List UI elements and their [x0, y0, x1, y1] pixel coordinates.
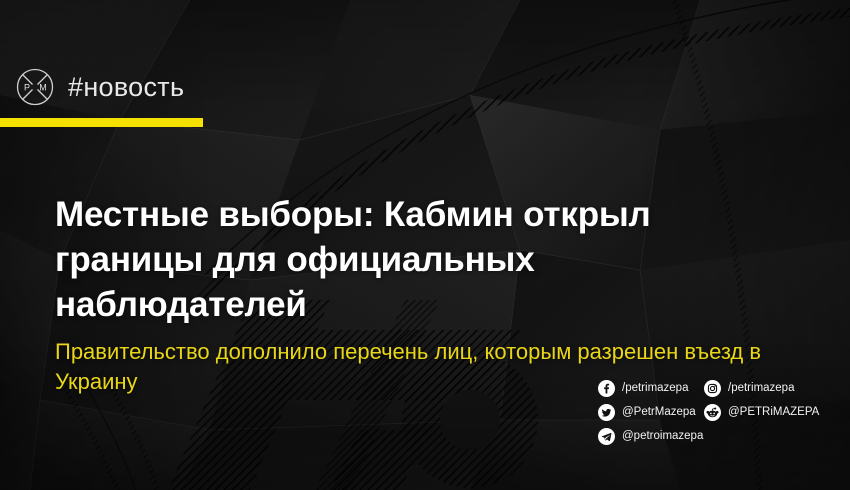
social-handle: @petroimazepa	[622, 431, 703, 443]
social-link-reddit[interactable]: @PETRiMAZEPA	[704, 402, 819, 423]
headline: Местные выборы: Кабмин открыл границы дл…	[55, 192, 745, 327]
social-links: /petrimazepa /petrimazepa @PetrMazepa	[598, 378, 819, 447]
social-handle: /petrimazepa	[622, 383, 688, 395]
social-link-twitter[interactable]: @PetrMazepa	[598, 402, 704, 423]
svg-text:M: M	[39, 83, 47, 93]
petr-i-mazepa-circle-logo-icon: P M	[14, 66, 56, 108]
social-handle: /petrimazepa	[728, 383, 794, 395]
social-handle: @PETRiMAZEPA	[728, 407, 819, 419]
yellow-accent-bar	[0, 118, 203, 127]
svg-text:P: P	[24, 83, 30, 93]
social-handle: @PetrMazepa	[622, 407, 696, 419]
brand-header: P M #новость	[14, 66, 184, 108]
telegram-icon	[598, 428, 615, 445]
reddit-icon	[704, 404, 721, 421]
category-hashtag: #новость	[68, 74, 184, 101]
social-link-facebook[interactable]: /petrimazepa	[598, 378, 704, 399]
news-card: P M #новость Местные выборы: Кабмин откр…	[0, 0, 850, 490]
twitter-icon	[598, 404, 615, 421]
instagram-icon	[704, 380, 721, 397]
facebook-icon	[598, 380, 615, 397]
social-link-instagram[interactable]: /petrimazepa	[704, 378, 819, 399]
social-link-telegram[interactable]: @petroimazepa	[598, 426, 704, 447]
